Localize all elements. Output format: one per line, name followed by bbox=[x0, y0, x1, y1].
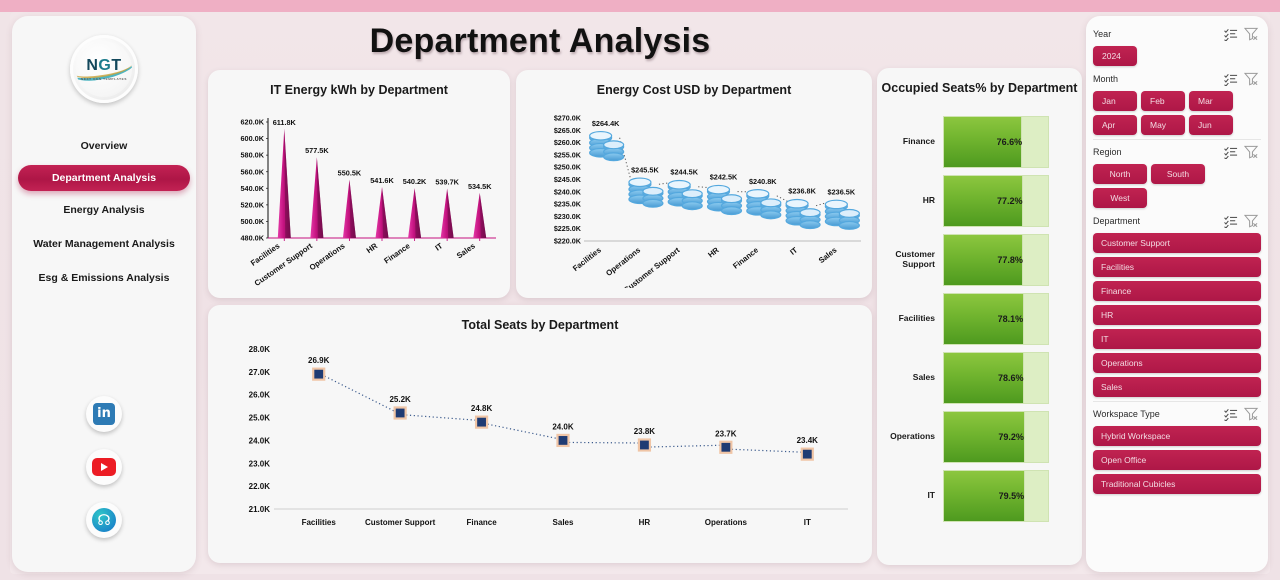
y-axis-tick: 25.0K bbox=[249, 414, 271, 423]
occupied-seats-category: Facilities bbox=[877, 314, 943, 324]
trend-line bbox=[488, 424, 557, 438]
chart-card-energy-cost: Energy Cost USD by Department $270.0K$26… bbox=[516, 70, 872, 298]
y-axis-tick: 620.0K bbox=[240, 118, 264, 127]
filter-group-title: Year bbox=[1093, 29, 1221, 39]
chart-title-total-seats: Total Seats by Department bbox=[208, 305, 872, 334]
y-axis-tick: $255.0K bbox=[554, 150, 582, 159]
trend-line bbox=[406, 415, 475, 420]
y-axis-tick: $250.0K bbox=[554, 163, 582, 172]
data-label: $236.5K bbox=[828, 187, 856, 196]
filter-chip-feb[interactable]: Feb bbox=[1141, 91, 1185, 111]
data-point-marker bbox=[558, 435, 569, 446]
data-label: 23.7K bbox=[715, 429, 737, 438]
filter-divider bbox=[1093, 139, 1261, 140]
linkedin-icon: in bbox=[93, 403, 115, 425]
cone-shade bbox=[349, 180, 356, 238]
clear-filter-icon[interactable] bbox=[1241, 144, 1261, 160]
occupied-seats-track: 79.5% bbox=[943, 470, 1049, 522]
sidebar-item-overview[interactable]: Overview bbox=[12, 129, 196, 163]
data-label: 23.4K bbox=[797, 436, 819, 445]
data-point-marker bbox=[395, 408, 406, 419]
occupied-seats-category: Sales bbox=[877, 373, 943, 383]
y-axis-tick: $265.0K bbox=[554, 126, 582, 135]
occupied-seats-row: Facilities78.1% bbox=[877, 290, 1082, 349]
filter-chip-south[interactable]: South bbox=[1151, 164, 1205, 184]
x-axis-label: HR bbox=[706, 245, 721, 259]
website-button[interactable]: ☊ bbox=[86, 502, 122, 538]
occupied-seats-value: 79.5% bbox=[999, 491, 1025, 501]
data-label: 550.5K bbox=[338, 169, 362, 178]
chart-card-it-energy: IT Energy kWh by Department 620.0K600.0K… bbox=[208, 70, 510, 298]
chart-title-energy-cost: Energy Cost USD by Department bbox=[516, 70, 872, 99]
y-axis-tick: $235.0K bbox=[554, 200, 582, 209]
data-label: 24.8K bbox=[471, 404, 493, 413]
occupied-seats-row: Operations79.2% bbox=[877, 408, 1082, 467]
left-sidebar: NGT NEXT GEN TEMPLATES Overview Departme… bbox=[12, 16, 196, 572]
y-axis-tick: 500.0K bbox=[240, 217, 264, 226]
clear-filter-icon[interactable] bbox=[1241, 26, 1261, 42]
filter-chip-north[interactable]: North bbox=[1093, 164, 1147, 184]
y-axis-tick: 23.0K bbox=[249, 459, 271, 468]
y-axis-tick: 22.0K bbox=[249, 482, 271, 491]
data-label: $242.5K bbox=[710, 173, 738, 182]
data-label: $240.8K bbox=[749, 177, 777, 186]
y-axis-tick: 540.0K bbox=[240, 184, 264, 193]
sidebar-item-energy-analysis[interactable]: Energy Analysis bbox=[12, 193, 196, 227]
coin-stack bbox=[629, 178, 663, 207]
occupied-seats-row: IT79.5% bbox=[877, 467, 1082, 526]
filter-group-department: DepartmentCustomer SupportFacilitiesFina… bbox=[1093, 211, 1261, 397]
data-label: 23.8K bbox=[634, 427, 656, 436]
occupied-seats-value: 78.6% bbox=[998, 373, 1024, 383]
y-axis-tick: $220.0K bbox=[554, 237, 582, 246]
occupied-seats-value: 77.2% bbox=[997, 196, 1023, 206]
data-label: $264.4K bbox=[592, 119, 620, 128]
y-axis-tick: 600.0K bbox=[240, 134, 264, 143]
youtube-icon bbox=[92, 458, 116, 476]
occupied-seats-value: 79.2% bbox=[998, 432, 1024, 442]
occupied-seats-row: Sales78.6% bbox=[877, 349, 1082, 408]
x-axis-label: Sales bbox=[455, 241, 477, 260]
cone-shade bbox=[415, 188, 422, 238]
filter-chip-finance[interactable]: Finance bbox=[1093, 281, 1261, 301]
occupied-seats-value: 77.8% bbox=[997, 255, 1023, 265]
data-point-marker bbox=[720, 442, 731, 453]
occupied-seats-bars: Finance76.6%HR77.2%Customer Support77.8%… bbox=[877, 113, 1082, 526]
trend-line bbox=[569, 442, 638, 443]
y-axis-tick: 24.0K bbox=[249, 436, 271, 445]
connector-line bbox=[698, 187, 709, 188]
y-axis-tick: $225.0K bbox=[554, 224, 582, 233]
occupied-seats-row: Finance76.6% bbox=[877, 113, 1082, 172]
filter-group-header: Department bbox=[1093, 211, 1261, 231]
occupied-seats-track: 76.6% bbox=[943, 116, 1049, 168]
filter-chip-list: NorthSouthWest bbox=[1093, 164, 1261, 208]
occupied-seats-track: 78.1% bbox=[943, 293, 1049, 345]
data-label: $236.8K bbox=[788, 187, 816, 196]
filter-chip-it[interactable]: IT bbox=[1093, 329, 1261, 349]
filter-chip-facilities[interactable]: Facilities bbox=[1093, 257, 1261, 277]
data-label: 577.5K bbox=[305, 146, 329, 155]
x-axis-label: Operations bbox=[604, 245, 642, 278]
x-axis-label: IT bbox=[788, 245, 799, 257]
youtube-button[interactable] bbox=[86, 449, 122, 485]
filter-chip-apr[interactable]: Apr bbox=[1093, 115, 1137, 135]
filter-chip-traditional-cubicles[interactable]: Traditional Cubicles bbox=[1093, 474, 1261, 494]
data-label: 541.6K bbox=[370, 176, 394, 185]
y-axis-tick: 26.0K bbox=[249, 391, 271, 400]
data-label: 611.8K bbox=[273, 118, 297, 127]
filter-group-title: Region bbox=[1093, 147, 1221, 157]
chart-card-total-seats: Total Seats by Department 28.0K27.0K26.0… bbox=[208, 305, 872, 563]
filter-group-header: Region bbox=[1093, 142, 1261, 162]
chart-title-it-energy: IT Energy kWh by Department bbox=[208, 70, 510, 99]
coin-stack bbox=[747, 190, 781, 219]
filter-group-header: Month bbox=[1093, 69, 1261, 89]
y-axis-tick: 27.0K bbox=[249, 368, 271, 377]
multi-select-icon[interactable] bbox=[1221, 406, 1241, 422]
social-links: in ☊ bbox=[86, 396, 122, 538]
cone-shade bbox=[447, 189, 454, 238]
filter-chip-west[interactable]: West bbox=[1093, 188, 1147, 208]
y-axis-tick: 21.0K bbox=[249, 505, 271, 514]
chart-title-occupied-seats: Occupied Seats% by Department bbox=[877, 68, 1082, 97]
filter-chip-may[interactable]: May bbox=[1141, 115, 1185, 135]
y-axis-tick: 480.0K bbox=[240, 234, 264, 243]
filter-chip-list: JanFebMarAprMayJun bbox=[1093, 91, 1261, 135]
filter-chip-2024[interactable]: 2024 bbox=[1093, 46, 1137, 66]
occupied-seats-category: Finance bbox=[877, 137, 943, 147]
y-axis-tick: 580.0K bbox=[240, 151, 264, 160]
occupied-seats-row: HR77.2% bbox=[877, 172, 1082, 231]
filter-group-title: Month bbox=[1093, 74, 1221, 84]
x-axis-label: Facilities bbox=[571, 245, 603, 273]
filter-chip-jan[interactable]: Jan bbox=[1093, 91, 1137, 111]
linkedin-button[interactable]: in bbox=[86, 396, 122, 432]
filter-chip-mar[interactable]: Mar bbox=[1189, 91, 1233, 111]
filter-chip-operations[interactable]: Operations bbox=[1093, 353, 1261, 373]
multi-select-icon[interactable] bbox=[1221, 213, 1241, 229]
data-label: 25.2K bbox=[389, 395, 411, 404]
occupied-seats-row: Customer Support77.8% bbox=[877, 231, 1082, 290]
sidebar-item-esg-emissions-analysis[interactable]: Esg & Emissions Analysis bbox=[12, 261, 196, 295]
x-axis-label: Customer Support bbox=[365, 518, 436, 527]
data-label: $245.5K bbox=[631, 165, 659, 174]
multi-select-icon[interactable] bbox=[1221, 26, 1241, 42]
data-label: 539.7K bbox=[435, 178, 459, 187]
x-axis-label: HR bbox=[365, 241, 380, 255]
x-axis-label: Operations bbox=[705, 518, 748, 527]
data-label: 534.5K bbox=[468, 182, 492, 191]
y-axis-tick: $260.0K bbox=[554, 138, 582, 147]
x-axis-label: Customer Support bbox=[253, 241, 315, 286]
occupied-seats-track: 79.2% bbox=[943, 411, 1049, 463]
occupied-seats-track: 77.2% bbox=[943, 175, 1049, 227]
filter-chip-jun[interactable]: Jun bbox=[1189, 115, 1233, 135]
data-label: 24.0K bbox=[552, 422, 574, 431]
multi-select-icon[interactable] bbox=[1221, 144, 1241, 160]
coin-stack bbox=[708, 185, 742, 214]
data-point-marker bbox=[313, 369, 324, 380]
x-axis-label: Sales bbox=[817, 245, 839, 265]
data-point-marker bbox=[802, 449, 813, 460]
sidebar-item-water-management-analysis[interactable]: Water Management Analysis bbox=[12, 227, 196, 261]
data-label: 26.9K bbox=[308, 356, 330, 365]
filter-divider bbox=[1093, 401, 1261, 402]
y-axis-tick: $230.0K bbox=[554, 212, 582, 221]
y-axis-tick: 28.0K bbox=[249, 345, 271, 354]
occupied-seats-category: Operations bbox=[877, 432, 943, 442]
occupied-seats-category: Customer Support bbox=[877, 250, 943, 270]
logo-tagline: NEXT GEN TEMPLATES bbox=[81, 77, 127, 81]
filter-group-region: RegionNorthSouthWest bbox=[1093, 142, 1261, 208]
filter-chip-list: Customer SupportFacilitiesFinanceHRITOpe… bbox=[1093, 233, 1261, 397]
coin-stack bbox=[590, 132, 624, 161]
coin-stack bbox=[668, 181, 702, 210]
x-axis-label: IT bbox=[433, 241, 444, 252]
filter-group-header: Year bbox=[1093, 24, 1261, 44]
coin-stack bbox=[786, 199, 820, 228]
cone-shade bbox=[317, 157, 324, 238]
sidebar-nav: Overview Department Analysis Energy Anal… bbox=[12, 129, 196, 295]
filter-group-year: Year2024 bbox=[1093, 24, 1261, 66]
x-axis-label: IT bbox=[804, 518, 811, 527]
cone-shade bbox=[382, 187, 389, 238]
occupied-seats-value: 76.6% bbox=[997, 137, 1023, 147]
filter-group-title: Department bbox=[1093, 216, 1221, 226]
filter-chip-list: Hybrid WorkspaceOpen OfficeTraditional C… bbox=[1093, 426, 1261, 494]
trend-line bbox=[650, 445, 719, 447]
cone-shade bbox=[284, 129, 291, 238]
data-label: $244.5K bbox=[670, 168, 698, 177]
data-point-marker bbox=[476, 417, 487, 428]
data-label: 540.2K bbox=[403, 177, 427, 186]
chart-card-occupied-seats: Occupied Seats% by Department Finance76.… bbox=[877, 68, 1082, 565]
filter-chip-sales[interactable]: Sales bbox=[1093, 377, 1261, 397]
trend-line bbox=[732, 449, 801, 452]
filter-group-title: Workspace Type bbox=[1093, 409, 1221, 419]
filter-chip-customer-support[interactable]: Customer Support bbox=[1093, 233, 1261, 253]
filter-chip-list: 2024 bbox=[1093, 46, 1261, 66]
x-axis-label: Finance bbox=[731, 245, 760, 271]
chart-it-energy: 620.0K600.0K580.0K560.0K540.0K520.0K500.… bbox=[208, 96, 510, 286]
page-title: Department Analysis bbox=[210, 22, 870, 61]
globe-icon: ☊ bbox=[92, 508, 116, 532]
y-axis-tick: $245.0K bbox=[554, 175, 582, 184]
logo-wordmark: NGT bbox=[86, 58, 121, 74]
chart-total-seats: 28.0K27.0K26.0K25.0K24.0K23.0K22.0K21.0K… bbox=[208, 331, 872, 553]
filter-chip-hr[interactable]: HR bbox=[1093, 305, 1261, 325]
occupied-seats-category: IT bbox=[877, 491, 943, 501]
filter-chip-hybrid-workspace[interactable]: Hybrid Workspace bbox=[1093, 426, 1261, 446]
occupied-seats-track: 77.8% bbox=[943, 234, 1049, 286]
y-axis-tick: 520.0K bbox=[240, 200, 264, 209]
occupied-seats-track: 78.6% bbox=[943, 352, 1049, 404]
data-point-marker bbox=[639, 440, 650, 451]
y-axis-tick: 560.0K bbox=[240, 167, 264, 176]
x-axis-label: Finance bbox=[466, 518, 497, 527]
cone-shade bbox=[480, 193, 487, 238]
ngt-logo: NGT NEXT GEN TEMPLATES bbox=[70, 35, 138, 103]
occupied-seats-category: HR bbox=[877, 196, 943, 206]
filter-group-workspace-type: Workspace TypeHybrid WorkspaceOpen Offic… bbox=[1093, 404, 1261, 494]
filter-chip-open-office[interactable]: Open Office bbox=[1093, 450, 1261, 470]
filter-group-header: Workspace Type bbox=[1093, 404, 1261, 424]
x-axis-label: HR bbox=[639, 518, 651, 527]
clear-filter-icon[interactable] bbox=[1241, 406, 1261, 422]
y-axis-tick: $270.0K bbox=[554, 114, 582, 123]
chart-energy-cost: $270.0K$265.0K$260.0K$255.0K$250.0K$245.… bbox=[516, 96, 872, 288]
clear-filter-icon[interactable] bbox=[1241, 71, 1261, 87]
occupied-seats-value: 78.1% bbox=[998, 314, 1024, 324]
x-axis-label: Facilities bbox=[302, 518, 337, 527]
clear-filter-icon[interactable] bbox=[1241, 213, 1261, 229]
y-axis-tick: $240.0K bbox=[554, 187, 582, 196]
dashboard-page: NGT NEXT GEN TEMPLATES Overview Departme… bbox=[0, 0, 1280, 580]
filter-group-month: MonthJanFebMarAprMayJun bbox=[1093, 69, 1261, 135]
sidebar-item-department-analysis[interactable]: Department Analysis bbox=[18, 165, 190, 191]
x-axis-label: Finance bbox=[382, 241, 412, 266]
trend-line bbox=[325, 376, 394, 411]
multi-select-icon[interactable] bbox=[1221, 71, 1241, 87]
x-axis-label: Operations bbox=[308, 241, 347, 272]
filter-panel: Year2024MonthJanFebMarAprMayJunRegionNor… bbox=[1086, 16, 1268, 572]
coin-stack bbox=[825, 200, 859, 229]
x-axis-label: Sales bbox=[553, 518, 574, 527]
